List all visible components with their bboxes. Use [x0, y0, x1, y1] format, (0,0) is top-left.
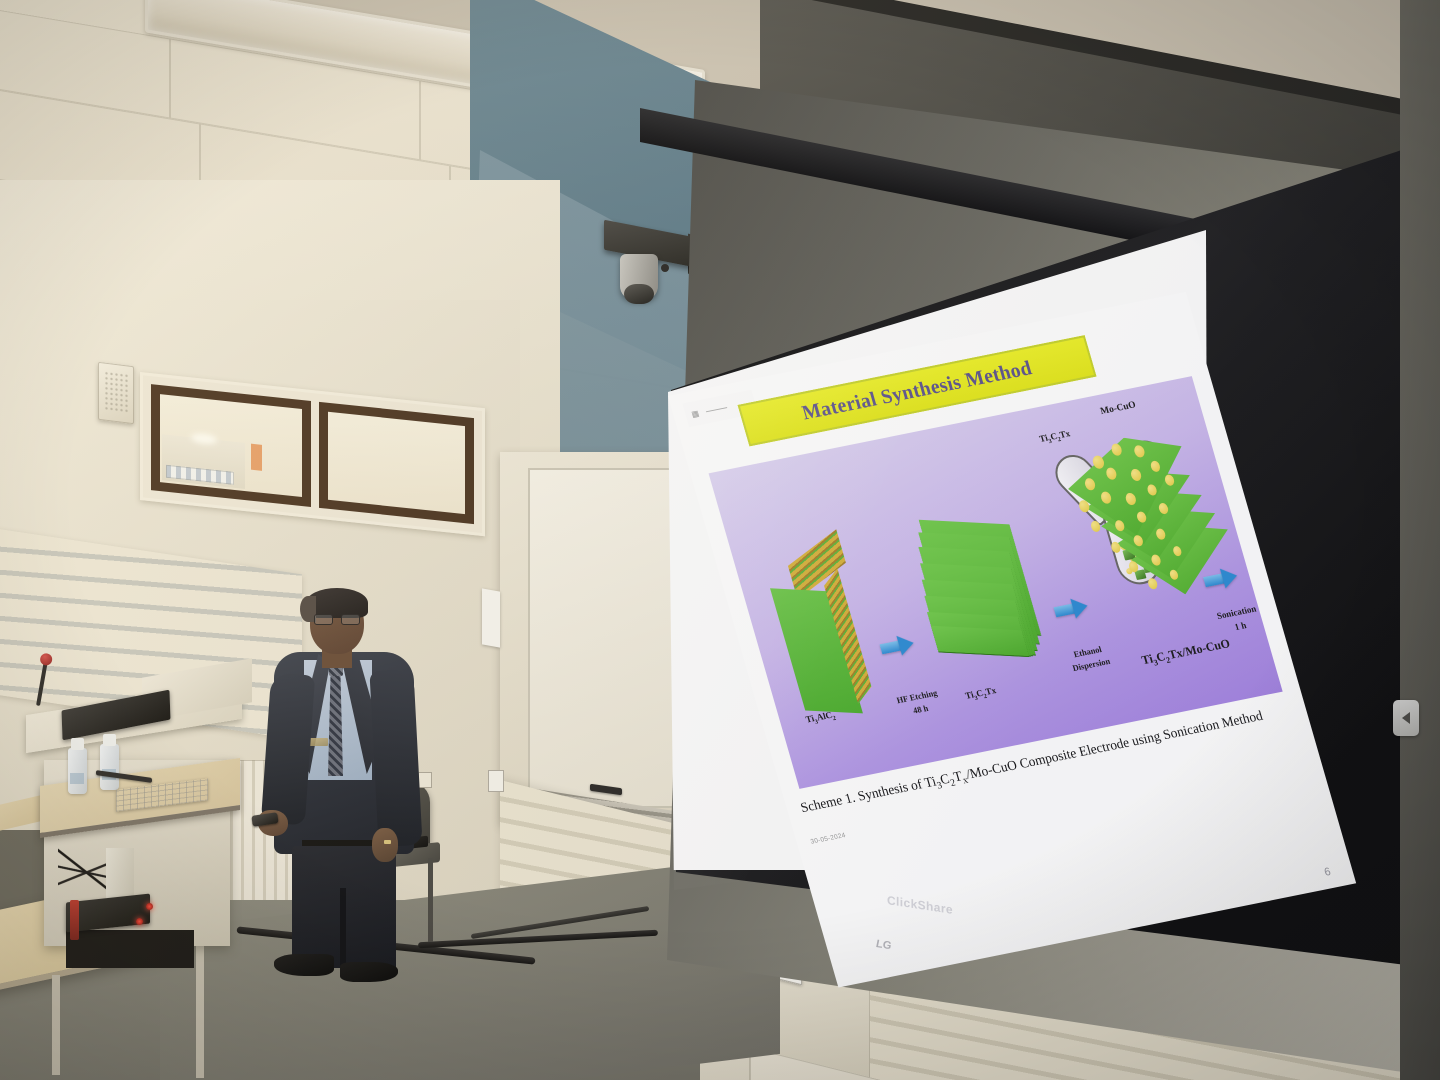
status-led-2 [146, 903, 153, 910]
presenter [252, 588, 432, 1000]
lecture-hall-photo: ROOM 119 DO NOT REMOVE AV CABINET [0, 0, 1440, 1080]
name-badge [308, 738, 328, 746]
toolbar-divider [705, 407, 726, 412]
shoe-right [340, 962, 398, 982]
slide-warp-layer: ▦ Material Synthesis Method Ti3AlC2 [668, 230, 1208, 921]
finger-ring [384, 840, 391, 844]
whiteboard[interactable] [528, 468, 688, 808]
right-wall-panel [1400, 0, 1440, 1080]
camera-lens [624, 284, 654, 304]
slide-thumbnail-icon[interactable]: ▦ [690, 408, 700, 418]
lectern-base-shadow [66, 930, 194, 968]
slide-date-stamp: 30-05-2024 [810, 832, 847, 846]
arrow-hf-etching [878, 633, 916, 659]
hand-right [372, 828, 398, 862]
precursor-block [765, 554, 888, 711]
desk-leg [52, 975, 60, 1075]
mxene-stack [905, 509, 1075, 692]
window-pane-right [319, 402, 474, 524]
hf-etching-label: HF Etching 48 h [888, 685, 949, 721]
product-label: Ti3C2Tx/Mo-CuO [1140, 636, 1232, 670]
speaker-icon [98, 362, 134, 424]
window-pane-left [151, 384, 311, 507]
shoe-left [274, 954, 334, 976]
desk-leg-2 [196, 932, 204, 1078]
status-led [136, 918, 143, 925]
arm-right [369, 669, 422, 847]
red-cable [70, 900, 79, 940]
slide-page-number: 6 [1323, 866, 1332, 879]
pump-bottle-icon-2[interactable] [100, 744, 119, 790]
triangle-left-icon[interactable] [1393, 700, 1419, 736]
wall-notice-paper [482, 588, 500, 647]
eyeglasses-icon [314, 614, 360, 624]
pump-bottle-icon[interactable] [68, 748, 87, 794]
wall-outlet-plate[interactable] [488, 770, 504, 792]
precursor-label: Ti3AlC2 [804, 709, 837, 727]
